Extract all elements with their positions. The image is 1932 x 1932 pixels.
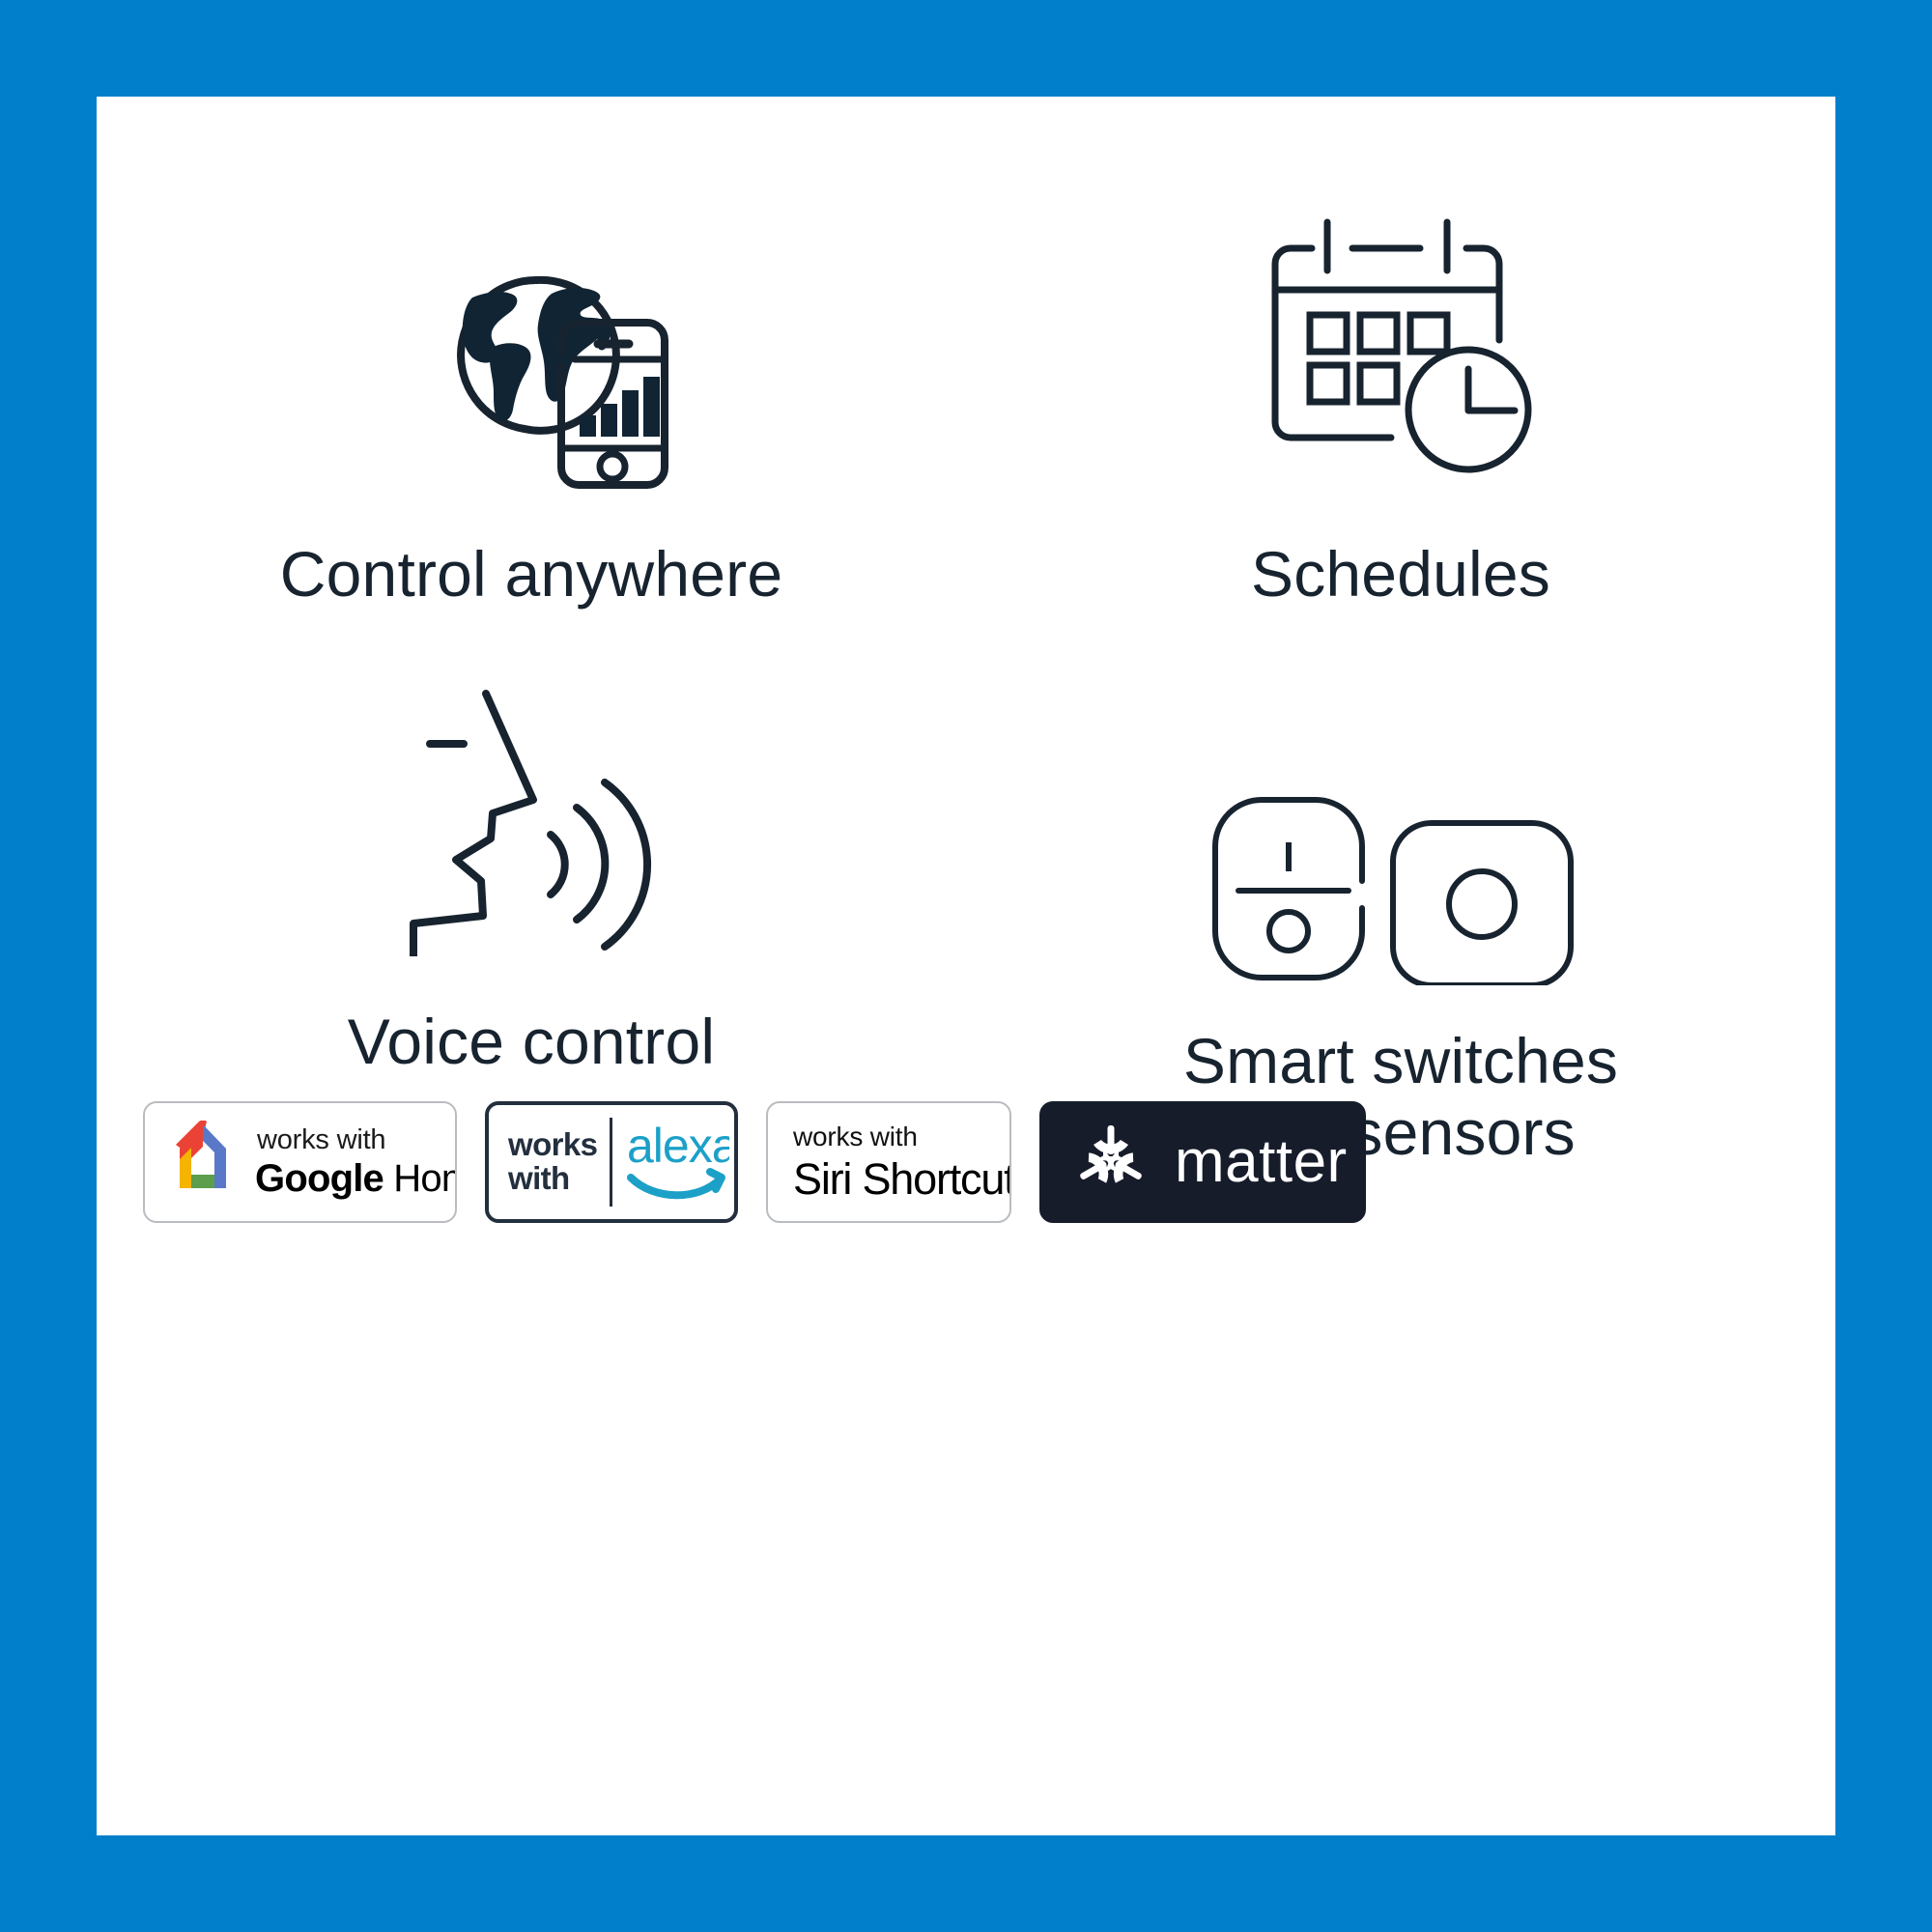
badge-google-home[interactable]: works with Google Home <box>143 1101 457 1223</box>
feature-label: Schedules <box>1251 539 1550 611</box>
white-content-panel: Control anywhere <box>97 97 1835 1835</box>
amazon-alexa-smile-icon: alexa <box>625 1118 729 1207</box>
compatibility-badge-row: works with Google Home works with alexa <box>143 1101 1366 1223</box>
feature-control-anywhere: Control anywhere <box>97 155 966 622</box>
svg-text:alexa: alexa <box>627 1119 729 1173</box>
badge-brand-label: Siri Shortcuts <box>793 1157 1011 1201</box>
badge-siri-shortcuts[interactable]: works with Siri Shortcuts <box>766 1101 1011 1223</box>
calendar-clock-icon <box>1256 205 1546 495</box>
matter-arrows-icon <box>1076 1123 1148 1202</box>
badge-works-with-label: works with <box>793 1123 1011 1151</box>
feature-label: Voice control <box>348 1007 716 1078</box>
badge-matter[interactable]: matter <box>1039 1101 1366 1223</box>
globe-phone-icon <box>372 205 691 495</box>
switch-sensor-icon <box>1207 705 1594 985</box>
feature-grid: Control anywhere <box>97 155 1835 1169</box>
product-feature-graphic: Control anywhere <box>0 0 1932 1932</box>
badge-divider <box>610 1118 612 1207</box>
feature-schedules: Schedules <box>966 155 1835 622</box>
google-home-house-icon <box>166 1121 240 1205</box>
badge-works-with-label: works with <box>508 1128 597 1196</box>
badge-works-with-label: works with <box>255 1126 457 1154</box>
badge-brand-label: matter <box>1175 1132 1348 1192</box>
badge-alexa[interactable]: works with alexa <box>485 1101 738 1223</box>
feature-label: Control anywhere <box>280 539 782 611</box>
feature-smart-switches-and-sensors: Smart switches and sensors <box>966 622 1835 1169</box>
speaking-head-soundwave-icon <box>386 676 676 956</box>
badge-brand-label: Google Home <box>255 1159 457 1198</box>
feature-voice-control: Voice control <box>97 622 966 1169</box>
